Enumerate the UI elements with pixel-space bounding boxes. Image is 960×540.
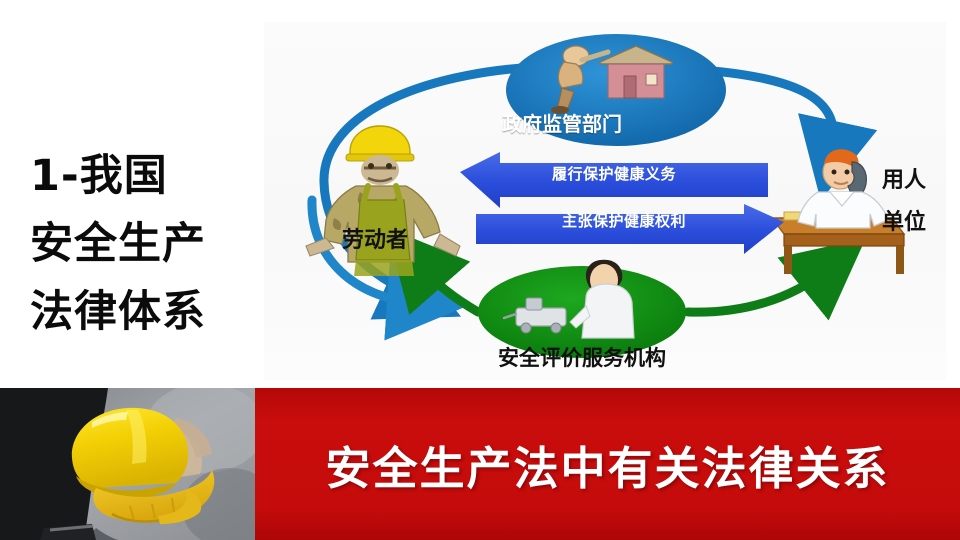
diagram-graphics bbox=[264, 22, 946, 380]
relationship-diagram-panel: 政府监管部门 劳动者 用人 单位 安全评价服务机构 履行保护健康义务 主张保护健… bbox=[264, 22, 946, 380]
node-label-employer-line-2: 单位 bbox=[882, 204, 926, 236]
hard-hat-photo bbox=[0, 388, 255, 540]
heading-line-2: 安全生产 bbox=[30, 210, 250, 278]
curved-arrow-assessor-to-worker bbox=[422, 268, 478, 312]
node-label-assessor: 安全评价服务机构 bbox=[498, 342, 666, 372]
red-title-banner: 安全生产法中有关法律关系 bbox=[255, 388, 960, 540]
node-label-employer-line-1: 用人 bbox=[882, 162, 926, 194]
hard-hat-photo-graphic bbox=[0, 388, 255, 540]
heading-line-3: 法律体系 bbox=[30, 278, 250, 346]
banner-title-text: 安全生产法中有关法律关系 bbox=[255, 388, 960, 540]
node-label-government: 政府监管部门 bbox=[502, 108, 622, 137]
slide-root: 1-我国 安全生产 法律体系 bbox=[0, 0, 960, 540]
left-heading-block: 1-我国 安全生产 法律体系 bbox=[30, 142, 250, 346]
arrow-band-label-duty: 履行保护健康义务 bbox=[552, 163, 676, 184]
heading-line-1: 1-我国 bbox=[30, 142, 250, 210]
arrow-band-label-claim: 主张保护健康权利 bbox=[562, 210, 686, 231]
node-label-worker: 劳动者 bbox=[342, 222, 408, 254]
curved-arrow-assessor-to-employer bbox=[688, 272, 824, 312]
